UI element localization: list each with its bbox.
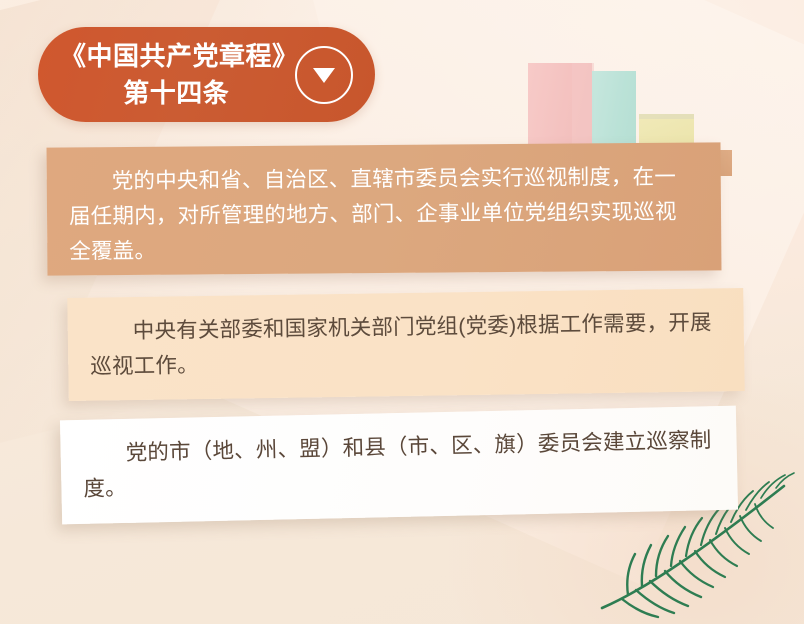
content-card-2-text: 中央有关部委和国家机关部门党组(党委)根据工作需要，开展巡视工作。	[90, 305, 721, 384]
header-badge[interactable]: 《中国共产党章程》 第十四条	[38, 27, 375, 122]
header-badge-line1: 《中国共产党章程》	[60, 38, 299, 75]
decoration-book-pink-shade	[572, 63, 594, 151]
caret-down-icon[interactable]	[295, 46, 353, 104]
content-card-3-text: 党的市（地、州、盟）和县（市、区、旗）委员会建立巡察制度。	[82, 423, 713, 506]
content-card-3: 党的市（地、州、盟）和县（市、区、旗）委员会建立巡察制度。	[60, 406, 738, 525]
header-badge-text: 《中国共产党章程》 第十四条	[60, 38, 299, 112]
decoration-book-mint	[592, 71, 636, 151]
content-card-2: 中央有关部委和国家机关部门党组(党委)根据工作需要，开展巡视工作。	[67, 288, 744, 401]
content-card-1-text: 党的中央和省、自治区、直辖市委员会实行巡视制度，在一届任期内，对所管理的地方、部…	[69, 160, 698, 269]
caret-down-glyph	[313, 68, 335, 83]
decoration-book-yellow-cap	[639, 114, 694, 119]
poster-root: 《中国共产党章程》 第十四条 党的中央和省、自治区、直辖市委员会实行巡视制度，在…	[0, 0, 804, 624]
header-badge-line2: 第十四条	[60, 75, 299, 112]
content-card-1: 党的中央和省、自治区、直辖市委员会实行巡视制度，在一届任期内，对所管理的地方、部…	[47, 142, 722, 275]
